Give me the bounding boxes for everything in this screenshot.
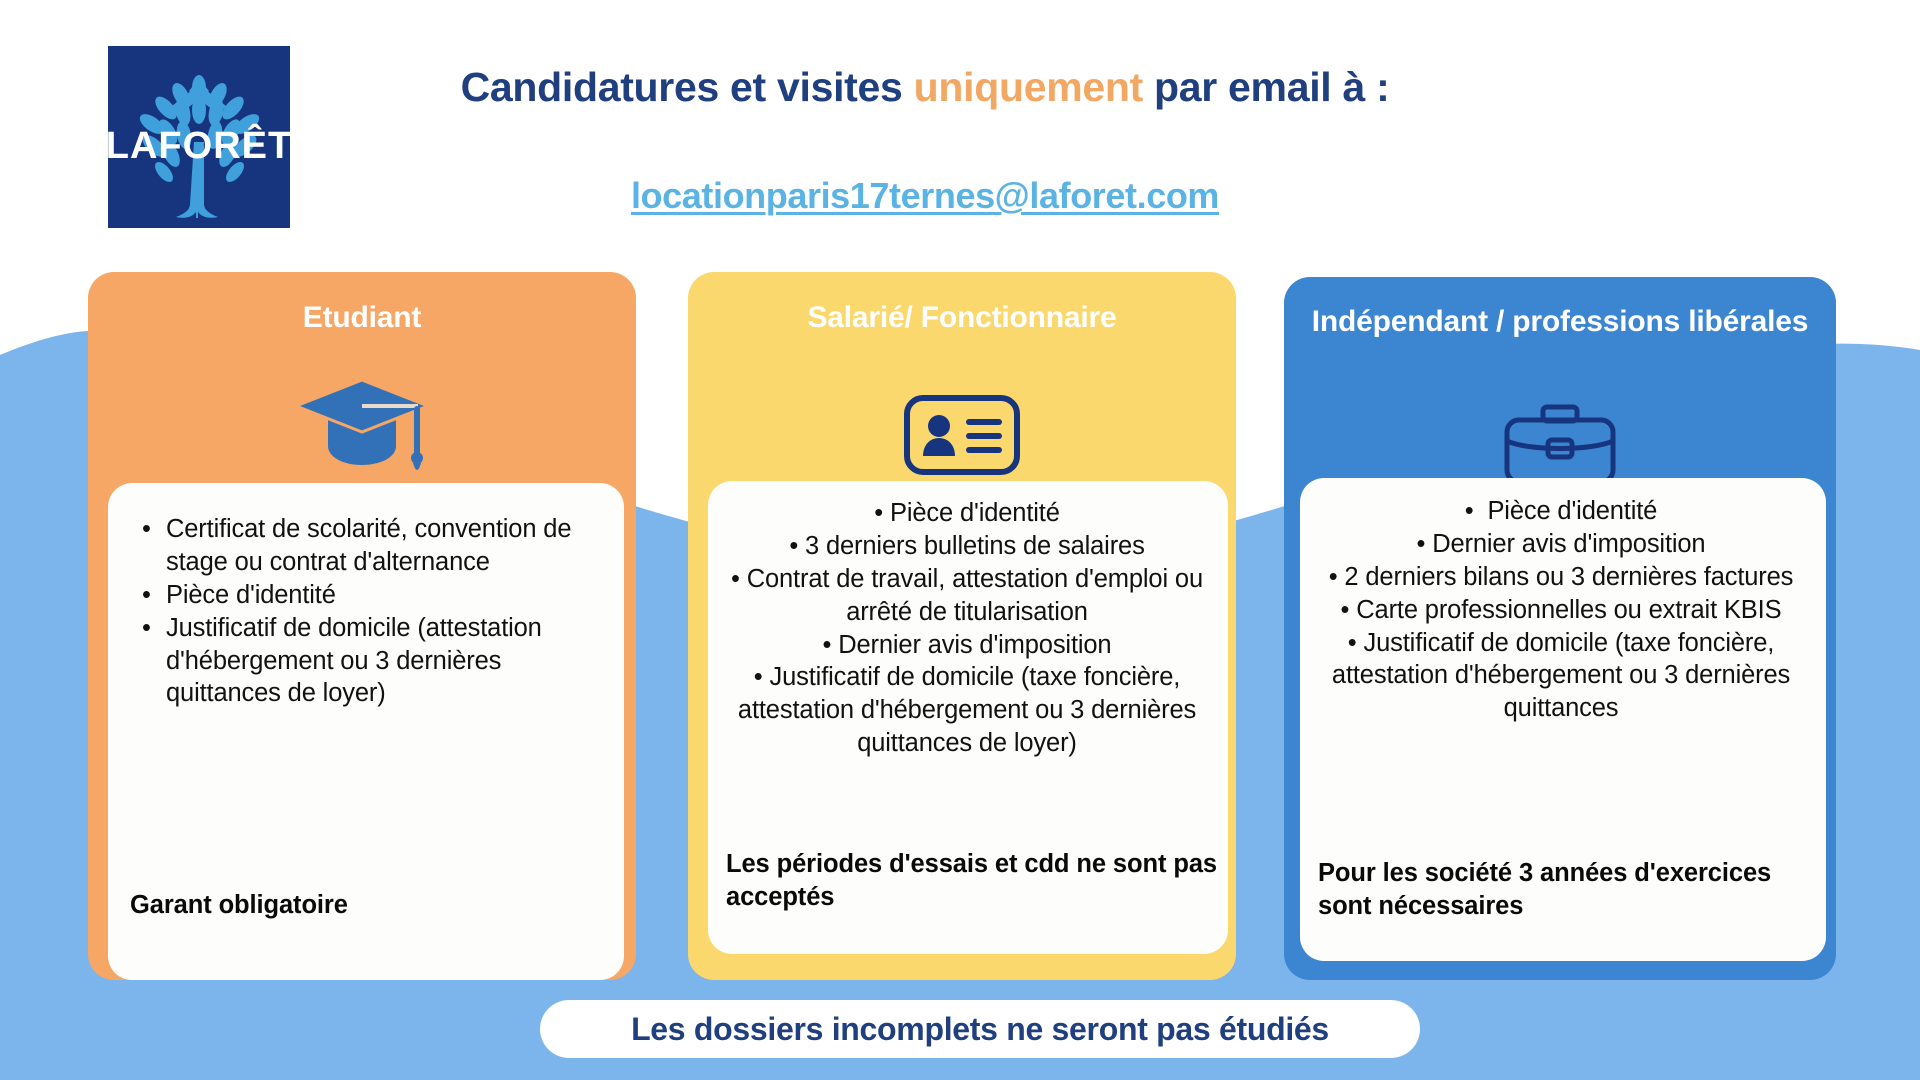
- bullet-dot-icon: •: [823, 631, 839, 659]
- bullet-dot-icon: •: [1329, 563, 1345, 591]
- tree-icon: LAFORÊT: [108, 46, 290, 228]
- bullet-dot-icon: •: [1465, 497, 1481, 525]
- panel-note-salarie: Les périodes d'essais et cdd ne sont pas…: [708, 848, 1228, 914]
- panel-independant: • Pièce d'identité • Dernier avis d'impo…: [1300, 478, 1826, 961]
- bullet-list-salarie: • Pièce d'identité • 3 derniers bulletin…: [718, 497, 1216, 760]
- panel-salarie: • Pièce d'identité • 3 derniers bulletin…: [708, 481, 1228, 954]
- bullet-dot-icon: •: [1341, 596, 1357, 624]
- list-item: • Justificatif de domicile (taxe foncièr…: [1314, 627, 1808, 726]
- panel-body-independant: • Pièce d'identité • Dernier avis d'impo…: [1300, 495, 1826, 725]
- page-title: Candidatures et visites uniquement par e…: [330, 62, 1520, 112]
- panel-note-independant: Pour les société 3 années d'exercices so…: [1300, 857, 1826, 923]
- card-title-independant: Indépendant / professions libérales: [1284, 304, 1836, 341]
- list-item: •Certificat de scolarité, convention de …: [130, 513, 600, 579]
- bullet-dot-icon: •: [789, 532, 805, 560]
- bullet-list-etudiant: •Certificat de scolarité, convention de …: [130, 513, 600, 710]
- panel-etudiant: •Certificat de scolarité, convention de …: [108, 483, 624, 980]
- card-title-salarie: Salarié/ Fonctionnaire: [688, 300, 1236, 337]
- title-accent: uniquement: [914, 64, 1143, 110]
- bullet-dot-icon: •: [142, 513, 151, 546]
- bullet-dot-icon: •: [142, 612, 151, 645]
- bullet-dot-icon: •: [1348, 629, 1364, 657]
- panel-body-etudiant: •Certificat de scolarité, convention de …: [108, 513, 624, 710]
- bullet-dot-icon: •: [731, 565, 747, 593]
- card-title-etudiant: Etudiant: [88, 300, 636, 337]
- list-item: • Justificatif de domicile (taxe foncièr…: [718, 661, 1216, 760]
- svg-text:LAFORÊT: LAFORÊT: [108, 123, 290, 167]
- list-item: • Dernier avis d'imposition: [1314, 528, 1808, 561]
- bullet-list-independant: • Pièce d'identité • Dernier avis d'impo…: [1314, 495, 1808, 725]
- title-part-1: Candidatures et visites: [461, 64, 914, 110]
- list-item: • 2 derniers bilans ou 3 dernières factu…: [1314, 561, 1808, 594]
- bullet-dot-icon: •: [754, 663, 770, 691]
- bullet-dot-icon: •: [1417, 530, 1433, 558]
- laforet-logo: LAFORÊT: [108, 46, 290, 228]
- list-item: • Contrat de travail, attestation d'empl…: [718, 563, 1216, 629]
- email-link[interactable]: locationparis17ternes@laforet.com: [631, 175, 1219, 216]
- panel-note-etudiant: Garant obligatoire: [108, 889, 624, 922]
- email-line: locationparis17ternes@laforet.com: [330, 175, 1520, 217]
- list-item: • 3 derniers bulletins de salaires: [718, 530, 1216, 563]
- panel-body-salarie: • Pièce d'identité • 3 derniers bulletin…: [708, 497, 1228, 760]
- briefcase-icon: [1284, 401, 1836, 487]
- list-item: •Pièce d'identité: [130, 579, 600, 612]
- title-part-2: par email à :: [1143, 64, 1389, 110]
- poster-root: LAFORÊT Candidatures et visites uniqueme…: [0, 0, 1920, 1080]
- graduation-cap-icon: [88, 370, 636, 478]
- bullet-dot-icon: •: [142, 579, 151, 612]
- header: LAFORÊT Candidatures et visites uniqueme…: [0, 0, 1920, 215]
- footer-text: Les dossiers incomplets ne seront pas ét…: [631, 1011, 1329, 1048]
- footer-banner: Les dossiers incomplets ne seront pas ét…: [540, 1000, 1420, 1058]
- list-item: • Pièce d'identité: [1314, 495, 1808, 528]
- id-card-icon: [688, 394, 1236, 476]
- list-item: •Justificatif de domicile (attestation d…: [130, 612, 600, 711]
- bullet-dot-icon: •: [874, 499, 890, 527]
- list-item: • Carte professionnelles ou extrait KBIS: [1314, 594, 1808, 627]
- list-item: • Pièce d'identité: [718, 497, 1216, 530]
- list-item: • Dernier avis d'imposition: [718, 629, 1216, 662]
